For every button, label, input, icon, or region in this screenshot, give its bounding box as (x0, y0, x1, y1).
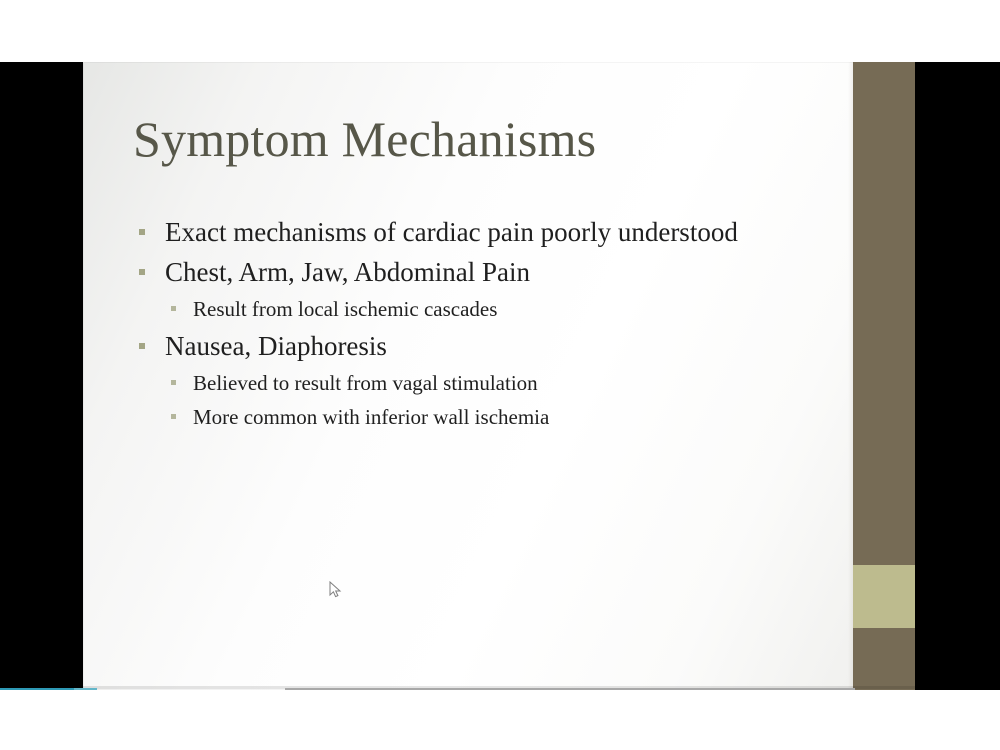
sub-bullet-marker-icon (171, 306, 176, 311)
bullet-item: Exact mechanisms of cardiac pain poorly … (135, 212, 835, 252)
slide-body-list: Exact mechanisms of cardiac pain poorly … (135, 212, 835, 434)
sub-bullet-item: Result from local ischemic cascades (135, 292, 835, 326)
sub-bullet-item: Believed to result from vagal stimulatio… (135, 366, 835, 400)
presentation-viewer: Symptom Mechanisms Exact mechanisms of c… (0, 0, 1000, 750)
sub-bullet-text: More common with inferior wall ischemia (193, 405, 549, 429)
sub-bullet-item: More common with inferior wall ischemia (135, 400, 835, 434)
arrow-pointer-icon (329, 581, 343, 599)
video-stage-letterbox[interactable]: Symptom Mechanisms Exact mechanisms of c… (0, 62, 1000, 690)
slide-title: Symptom Mechanisms (133, 110, 596, 168)
player-bottom-chrome (0, 690, 1000, 750)
bullet-marker-icon (139, 229, 145, 235)
bullet-item: Nausea, Diaphoresis (135, 326, 835, 366)
bullet-text: Exact mechanisms of cardiac pain poorly … (165, 217, 738, 247)
bullet-marker-icon (139, 343, 145, 349)
sub-bullet-marker-icon (171, 414, 176, 419)
sub-bullet-marker-icon (171, 380, 176, 385)
bullet-marker-icon (139, 269, 145, 275)
sub-bullet-text: Believed to result from vagal stimulatio… (193, 371, 538, 395)
slide-accent-block (853, 565, 915, 628)
bullet-text: Nausea, Diaphoresis (165, 331, 387, 361)
bullet-item: Chest, Arm, Jaw, Abdominal Pain (135, 252, 835, 292)
sub-bullet-text: Result from local ischemic cascades (193, 297, 497, 321)
bullet-text: Chest, Arm, Jaw, Abdominal Pain (165, 257, 530, 287)
slide-canvas[interactable]: Symptom Mechanisms Exact mechanisms of c… (83, 62, 915, 690)
